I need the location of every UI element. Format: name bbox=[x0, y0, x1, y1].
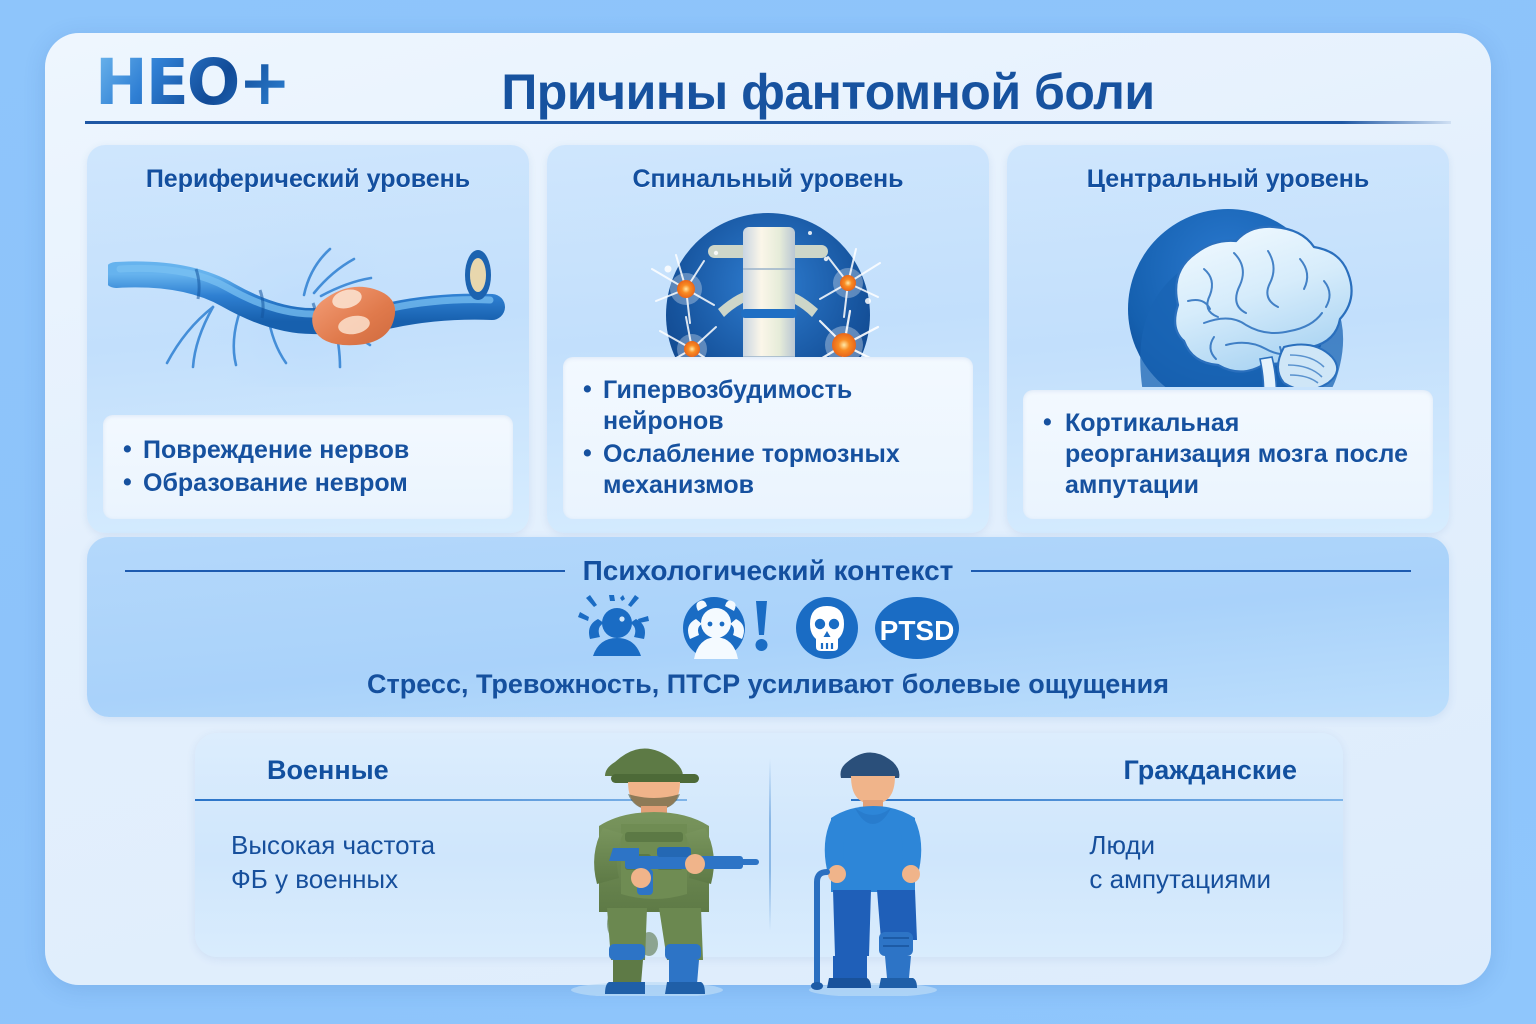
rule-right bbox=[971, 570, 1411, 572]
card-bullet-list: Повреждение нервов Образование невром bbox=[103, 415, 513, 519]
comparison-text-line2: ФБ у военных bbox=[231, 863, 435, 897]
list-item: Кортикальная реорганизация мозга после а… bbox=[1041, 408, 1423, 501]
comparison-text: Люди с ампутациями bbox=[1089, 829, 1271, 897]
levels-card-row: Периферический уровень bbox=[87, 145, 1449, 533]
comparison-title: Военные bbox=[267, 755, 389, 786]
soldier-with-prosthetic-leg-icon bbox=[529, 728, 759, 1001]
stressed-person-icon bbox=[576, 595, 662, 666]
comparison-title: Гражданские bbox=[1123, 755, 1297, 786]
list-item: Гипервозбудимость нейронов bbox=[581, 375, 963, 437]
card-title: Спинальный уровень bbox=[547, 165, 989, 194]
comparison-text-line1: Высокая частота bbox=[231, 829, 435, 863]
brain-head-profile-icon bbox=[1007, 197, 1449, 392]
psych-title: Психологический контекст bbox=[583, 555, 954, 587]
anxious-person-exclamation-icon bbox=[676, 595, 780, 666]
list-item: Образование невром bbox=[121, 468, 503, 499]
damaged-nerve-neuroma-icon bbox=[87, 197, 529, 392]
comparison-text: Высокая частота ФБ у военных bbox=[231, 829, 435, 897]
psych-icon-row: PTSD bbox=[87, 595, 1449, 666]
card-bullet-list: Гипервозбудимость нейронов Ослабление то… bbox=[563, 357, 973, 519]
card-bullet-list: Кортикальная реорганизация мозга после а… bbox=[1023, 390, 1433, 519]
psych-header: Психологический контекст bbox=[87, 555, 1449, 587]
psych-caption: Стресс, Тревожность, ПТСР усиливают боле… bbox=[87, 669, 1449, 700]
civilian-with-cane-and-prosthetic-leg-icon bbox=[773, 734, 963, 1001]
comparison-civilian: Гражданские Люди с ампутациями bbox=[769, 733, 1343, 957]
header: HEO+ Причины фантомной боли bbox=[45, 33, 1491, 125]
rule-left bbox=[125, 570, 565, 572]
psychological-context-panel: Психологический контекст bbox=[87, 537, 1449, 717]
page-title: Причины фантомной боли bbox=[45, 63, 1491, 121]
card-title: Периферический уровень bbox=[87, 165, 529, 194]
ptsd-badge-icon: PTSD bbox=[874, 595, 960, 666]
card-peripheral-level: Периферический уровень bbox=[87, 145, 529, 533]
list-item: Повреждение нервов bbox=[121, 435, 503, 466]
card-title: Центральный уровень bbox=[1007, 165, 1449, 194]
card-spinal-level: Спинальный уровень bbox=[547, 145, 989, 533]
card-central-level: Центральный уровень bbox=[1007, 145, 1449, 533]
infographic-panel: HEO+ Причины фантомной боли Периферическ… bbox=[45, 33, 1491, 985]
comparison-military: Военные Высокая частота ФБ у военных bbox=[195, 733, 769, 957]
comparison-text-line2: с ампутациями bbox=[1089, 863, 1271, 897]
header-divider bbox=[85, 121, 1451, 124]
list-item: Ослабление тормозных механизмов bbox=[581, 439, 963, 501]
exclamation-glyph bbox=[756, 601, 768, 651]
comparison-text-line1: Люди bbox=[1089, 829, 1271, 863]
ptsd-label: PTSD bbox=[880, 615, 955, 646]
skull-icon bbox=[794, 595, 860, 666]
population-comparison-panel: Военные Высокая частота ФБ у военных bbox=[195, 733, 1343, 957]
